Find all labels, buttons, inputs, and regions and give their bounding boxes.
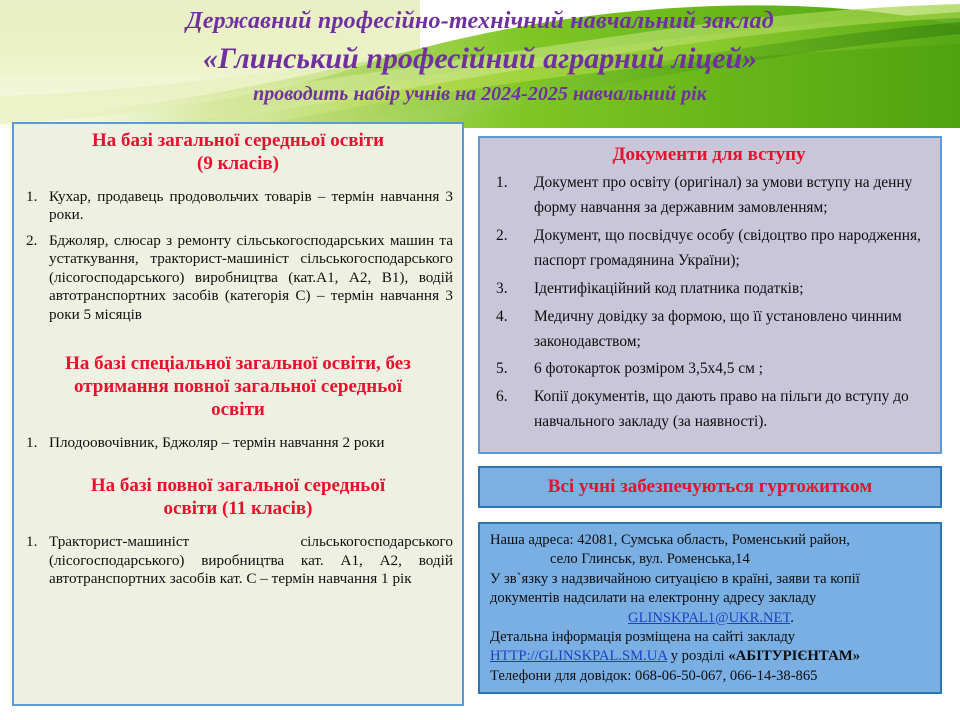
- programs-section3-heading-line1: На базі повної загальної середньої: [91, 475, 385, 496]
- email-link[interactable]: GLINSKPAL1@UKR.NET: [628, 610, 790, 626]
- list-item: Тракторист-машиніст сільськогосподарсько…: [23, 533, 453, 589]
- spacer: [23, 331, 453, 353]
- spacer: [23, 459, 453, 475]
- programs-section2-heading-line1: На базі спеціальної загальної освіти, бе…: [65, 353, 411, 374]
- programs-section2-heading: На базі спеціальної загальної освіти, бе…: [23, 353, 453, 421]
- email-line: GLINSKPAL1@UKR.NET.: [490, 609, 932, 628]
- website-line: HTTP://GLINSKPAL.SM.UA у розділі «АБІТУР…: [490, 647, 932, 667]
- documents-panel-heading: Документи для вступу: [488, 144, 930, 167]
- programs-section2-heading-line3: освіти: [211, 399, 265, 420]
- list-item: Плодоовочівник, Бджоляр – термін навчанн…: [23, 434, 453, 453]
- list-item: Ідентифікаційний код платника податків;: [488, 277, 930, 302]
- poster-title-block: Державний професійно-технічний навчальни…: [0, 8, 960, 106]
- address-line-1: Наша адреса: 42081, Сумська область, Ром…: [490, 531, 932, 550]
- phones-line: Телефони для довідок: 068-06-50-067, 066…: [490, 667, 932, 686]
- list-item: Медичну довідку за формою, що її установ…: [488, 305, 930, 355]
- dormitory-banner-text: Всі учні забезпечуються гуртожитком: [548, 477, 872, 498]
- documents-list: Документ про освіту (оригінал) за умови …: [488, 171, 930, 436]
- list-item: Документ про освіту (оригінал) за умови …: [488, 171, 930, 221]
- contacts-panel: Наша адреса: 42081, Сумська область, Ром…: [478, 522, 942, 694]
- email-suffix: .: [790, 610, 794, 626]
- list-item: Бджоляр, слюсар з ремонту сільськогоспод…: [23, 232, 453, 325]
- programs-section1-heading-line2: (9 класів): [197, 153, 279, 174]
- programs-section1-heading: На базі загальної середньої освіти (9 кл…: [23, 130, 453, 176]
- website-link[interactable]: HTTP://GLINSKPAL.SM.UA: [490, 648, 667, 664]
- institution-name-line: «Глинський професійний аграрний ліцей»: [0, 42, 960, 76]
- programs-section3-heading: На базі повної загальної середньої освіт…: [23, 475, 453, 521]
- address-line-2: село Глинськ, вул. Роменська,14: [490, 550, 932, 569]
- institution-type-line: Державний професійно-технічний навчальни…: [0, 8, 960, 35]
- programs-section1-heading-line1: На базі загальної середньої освіти: [92, 130, 384, 151]
- notice-line-1: У зв`язку з надзвичайною ситуацією в кра…: [490, 570, 932, 589]
- list-item: Копії документів, що дають право на піль…: [488, 385, 930, 435]
- list-item: 6 фотокарток розміром 3,5х4,5 см ;: [488, 357, 930, 382]
- programs-section3-list: Тракторист-машиніст сільськогосподарсько…: [23, 533, 453, 589]
- programs-section2-list: Плодоовочівник, Бджоляр – термін навчанн…: [23, 434, 453, 453]
- notice-line-2: документів надсилати на електронну адрес…: [490, 589, 932, 608]
- list-item: Документ, що посвідчує особу (свідоцтво …: [488, 224, 930, 274]
- programs-section1-list: Кухар, продавець продовольчих товарів – …: [23, 188, 453, 325]
- programs-section2-heading-line2: отримання повної загальної середньої: [74, 376, 402, 397]
- admission-year-line: проводить набір учнів на 2024-2025 навча…: [0, 83, 960, 105]
- website-intro-line: Детальна інформація розміщена на сайті з…: [490, 628, 932, 647]
- website-middle-text: у розділі: [671, 648, 725, 664]
- documents-panel: Документи для вступу Документ про освіту…: [478, 136, 942, 454]
- programs-panel: На базі загальної середньої освіти (9 кл…: [12, 122, 464, 706]
- dormitory-banner: Всі учні забезпечуються гуртожитком: [478, 466, 942, 508]
- list-item: Кухар, продавець продовольчих товарів – …: [23, 188, 453, 225]
- website-section-name: «АБІТУРІЄНТАМ»: [728, 648, 860, 664]
- programs-section3-heading-line2: освіти (11 класів): [164, 498, 313, 519]
